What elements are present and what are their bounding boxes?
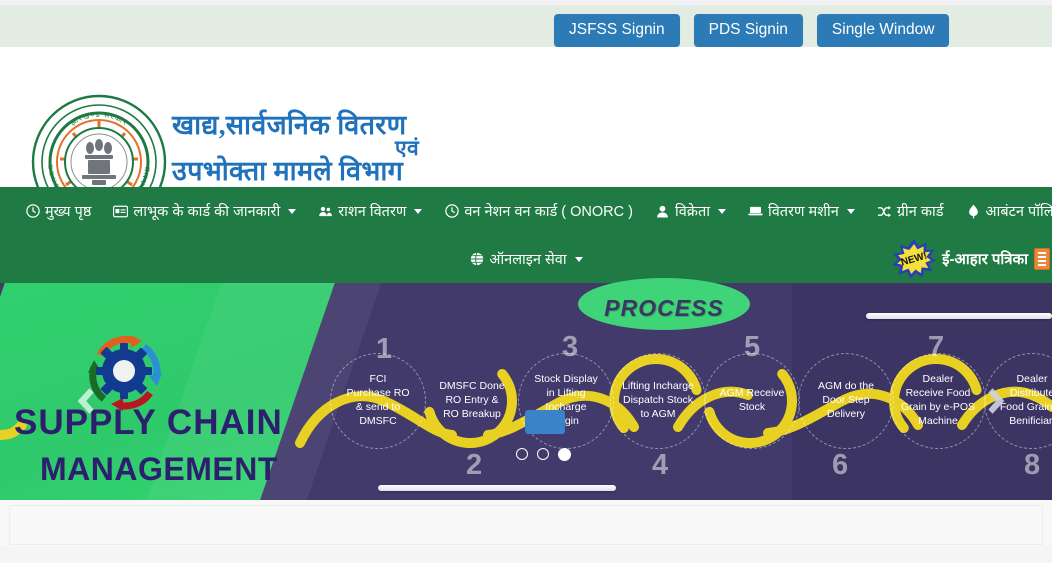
banner-headline: SUPPLY CHAIN MANAGEMENT: [14, 405, 283, 488]
nav-distribution-machine-label: वितरण मशीन: [768, 201, 839, 221]
footer-spacer: [0, 546, 1052, 563]
banner-headline-line2: MANAGEMENT: [40, 451, 283, 488]
flow-step-5-text: AGM Receive Stock: [720, 387, 785, 415]
decorative-bar-top: [866, 313, 1052, 319]
text-selection-highlight: [525, 410, 565, 434]
single-window-button[interactable]: Single Window: [817, 14, 950, 47]
nav-allotment-policy[interactable]: आबंटन पॉलिसी: [955, 195, 1052, 227]
nav-row-primary: मुख्य पृष्ठ लाभूक के कार्ड की जानकारी रा…: [0, 187, 1052, 235]
chevron-down-icon: [575, 257, 583, 262]
carousel-dot-3[interactable]: [558, 448, 571, 461]
flow-step-6-text: AGM do the Door Step Delivery: [818, 380, 874, 422]
top-utility-bar: JSFSS Signin PDS Signin Single Window: [0, 0, 1052, 47]
e-aahar-patrika-link[interactable]: NEW! ई-आहार पत्रिका: [892, 235, 1052, 283]
main-navigation: मुख्य पृष्ठ लाभूक के कार्ड की जानकारी रा…: [0, 187, 1052, 283]
step-number-2: 2: [466, 449, 482, 482]
chevron-down-icon: [847, 209, 855, 214]
carousel-indicators: [516, 448, 571, 461]
carousel-dot-2[interactable]: [537, 448, 549, 460]
carousel-dot-1[interactable]: [516, 448, 528, 460]
clock-icon: [25, 204, 40, 219]
flow-step-5: AGM Receive Stock: [704, 353, 800, 449]
content-panel: [9, 505, 1043, 545]
nav-ration-distribution[interactable]: राशन वितरण: [307, 195, 433, 227]
leaf-icon: [966, 204, 981, 219]
nav-allotment-policy-label: आबंटन पॉलिसी: [986, 201, 1052, 221]
people-icon: [318, 204, 333, 219]
flow-step-2: DMSFC Done RO Entry & RO Breakup: [424, 353, 520, 449]
nav-dealer-label: विक्रेता: [675, 201, 710, 221]
flow-step-7-text: Dealer Receive Food Grain by e-POS Machi…: [901, 373, 975, 429]
nav-distribution-machine[interactable]: वितरण मशीन: [737, 195, 866, 227]
user-icon: [655, 204, 670, 219]
card-icon: [113, 204, 128, 219]
top-button-group: JSFSS Signin PDS Signin Single Window: [554, 14, 949, 47]
new-badge-label: NEW!: [887, 234, 940, 285]
flow-step-6: AGM do the Door Step Delivery: [798, 353, 894, 449]
flow-step-1: FCI Purchase RO & send to DMSFC: [330, 353, 426, 449]
pds-signin-button[interactable]: PDS Signin: [694, 14, 803, 47]
banner-headline-line1: SUPPLY CHAIN: [14, 405, 283, 440]
flow-step-4-text: Lifting Incharge Dispatch Stock to AGM: [622, 380, 694, 422]
book-icon: [1034, 248, 1050, 270]
department-title: खाद्य,सार्वजनिक वितरण एवं उपभोक्ता मामले…: [172, 112, 642, 185]
nav-home[interactable]: मुख्य पृष्ठ: [14, 195, 102, 227]
nav-online-service-label: ऑनलाइन सेवा: [489, 249, 566, 269]
nav-online-service[interactable]: ऑनलाइन सेवा: [458, 243, 593, 275]
device-icon: [748, 204, 763, 219]
nav-ration-distribution-label: राशन वितरण: [338, 201, 406, 221]
shuffle-icon: [877, 204, 892, 219]
flow-step-3: Stock Display in Lifting Incharge Login: [518, 353, 614, 449]
jsfss-signin-button[interactable]: JSFSS Signin: [554, 14, 680, 47]
chevron-down-icon: [288, 209, 296, 214]
process-badge-label: PROCESS: [604, 295, 723, 330]
page-root: JSFSS Signin PDS Signin Single Window: [0, 0, 1052, 563]
carousel-prev-button[interactable]: [66, 382, 100, 420]
nav-home-label: मुख्य पृष्ठ: [45, 201, 91, 221]
decorative-bar-bottom: [378, 485, 616, 491]
clock-icon: [444, 204, 459, 219]
globe-icon: [469, 252, 484, 267]
step-number-8: 8: [1024, 449, 1040, 482]
chevron-down-icon: [718, 209, 726, 214]
nav-onorc[interactable]: वन नेशन वन कार्ड ( ONORC ): [433, 195, 644, 227]
department-title-line3: उपभोक्ता मामले विभाग: [172, 158, 642, 186]
site-header: झारखण्ड सरकार GOVERNMENT OF JHARKHAND खा…: [0, 47, 1052, 187]
step-number-4: 4: [652, 449, 668, 482]
new-badge-icon: NEW!: [892, 239, 936, 279]
flow-step-7: Dealer Receive Food Grain by e-POS Machi…: [890, 353, 986, 449]
chevron-down-icon: [414, 209, 422, 214]
carousel-next-button[interactable]: [982, 382, 1016, 420]
flow-step-2-text: DMSFC Done RO Entry & RO Breakup: [439, 380, 504, 422]
flow-step-1-text: FCI Purchase RO & send to DMSFC: [346, 373, 409, 429]
flow-step-4: Lifting Incharge Dispatch Stock to AGM: [610, 353, 706, 449]
nav-onorc-label: वन नेशन वन कार्ड ( ONORC ): [464, 201, 633, 221]
nav-green-card-label: ग्रीन कार्ड: [897, 201, 944, 221]
process-badge: PROCESS: [578, 278, 750, 330]
nav-beneficiary-card-info-label: लाभूक के कार्ड की जानकारी: [133, 201, 280, 221]
nav-beneficiary-card-info[interactable]: लाभूक के कार्ड की जानकारी: [102, 195, 307, 227]
nav-dealer[interactable]: विक्रेता: [644, 195, 737, 227]
nav-green-card[interactable]: ग्रीन कार्ड: [866, 195, 955, 227]
step-number-6: 6: [832, 449, 848, 482]
e-aahar-patrika-label: ई-आहार पत्रिका: [942, 249, 1028, 269]
